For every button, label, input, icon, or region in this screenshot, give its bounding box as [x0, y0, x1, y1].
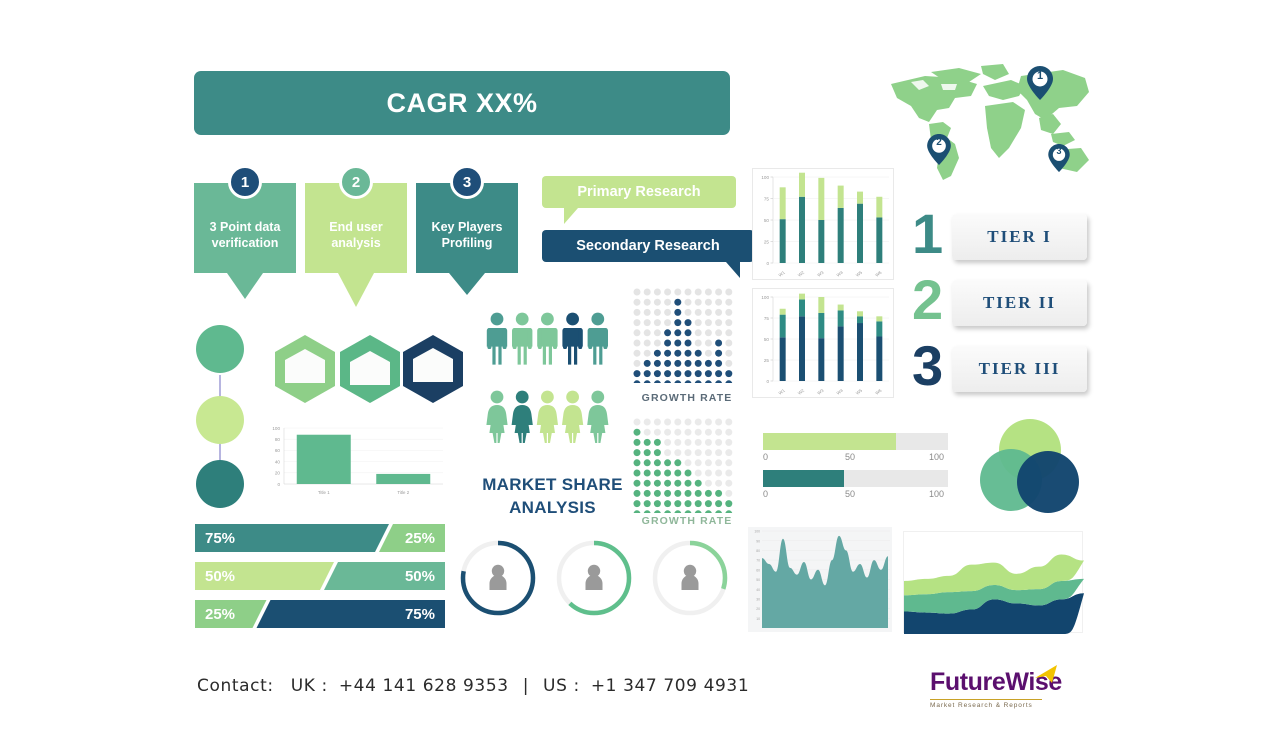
- svg-text:W2: W2: [797, 387, 806, 395]
- stacked-bar-chart-bottom-svg: 0255075100W1W2W3W4W5W6: [753, 289, 895, 399]
- svg-text:W5: W5: [855, 269, 864, 277]
- chain-circle-2[interactable]: [196, 396, 244, 444]
- svg-text:50%: 50%: [405, 568, 435, 585]
- scale-bar-fill-2: [763, 470, 844, 487]
- hexagon-1[interactable]: [272, 333, 338, 410]
- step-card-2[interactable]: 2 End user analysis: [305, 183, 407, 307]
- svg-text:100: 100: [761, 295, 769, 300]
- svg-text:25: 25: [764, 239, 770, 244]
- step-tail-1: [227, 273, 263, 299]
- contact-label: Contact:: [197, 676, 274, 696]
- svg-text:80: 80: [275, 437, 281, 442]
- area-chart-wave-svg: 102030405060708090100: [748, 527, 892, 632]
- scale-bar-2-tick-100: 100: [929, 489, 944, 499]
- svg-text:50: 50: [764, 218, 770, 223]
- donut-chart-1-svg: [456, 536, 540, 620]
- people-icons-group: [485, 310, 615, 465]
- svg-text:100: 100: [754, 530, 760, 534]
- venn-circle-navy: [1017, 451, 1079, 513]
- svg-text:10: 10: [756, 617, 760, 621]
- cagr-banner: CAGR XX%: [194, 71, 730, 135]
- svg-text:W2: W2: [797, 269, 806, 277]
- step-tail-3: [449, 273, 485, 295]
- tier-label-2: TIER II: [983, 293, 1056, 313]
- svg-text:0: 0: [766, 379, 769, 384]
- stacked-area-chart[interactable]: [903, 531, 1083, 633]
- svg-text:100: 100: [272, 426, 280, 431]
- svg-text:60: 60: [275, 448, 281, 453]
- scale-bar-1-tick-100: 100: [929, 452, 944, 462]
- svg-text:80: 80: [756, 549, 760, 553]
- tier-label-1: TIER I: [987, 227, 1051, 247]
- svg-text:W4: W4: [836, 387, 845, 395]
- scale-bar-fill-1: [763, 433, 896, 450]
- hexagon-3-icon: [400, 333, 466, 405]
- callout-secondary-research[interactable]: Secondary Research: [542, 230, 754, 262]
- contact-line: Contact: UK : +44 141 628 9353 | US : +1…: [197, 676, 749, 696]
- svg-text:50: 50: [756, 578, 760, 582]
- market-share-analysis-title: MARKET SHARE ANALYSIS: [470, 474, 635, 520]
- venn-diagram[interactable]: [978, 418, 1082, 518]
- stacked-bar-chart-top-svg: 0255075100W1W2W3W4W5W6: [753, 169, 895, 281]
- map-pin-3-number: 3: [1048, 146, 1070, 156]
- callout-primary-research-label: Primary Research: [577, 184, 700, 200]
- svg-text:60: 60: [756, 568, 760, 572]
- step-tail-2: [338, 273, 374, 307]
- tier-row-3[interactable]: 3 TIER III: [912, 346, 1087, 392]
- svg-text:W4: W4: [836, 269, 845, 277]
- step-badge-3: 3: [450, 165, 484, 199]
- svg-text:25%: 25%: [205, 606, 235, 623]
- tier-row-2[interactable]: 2 TIER II: [912, 280, 1087, 326]
- contact-us-phone: +1 347 709 4931: [591, 676, 749, 696]
- svg-text:0: 0: [766, 261, 769, 266]
- logo-tagline: Market Research & Reports: [930, 702, 1060, 709]
- svg-text:20: 20: [275, 471, 281, 476]
- map-pin-2[interactable]: 2: [927, 134, 951, 170]
- svg-text:W1: W1: [778, 387, 787, 395]
- dot-matrix-growth-1-svg: [632, 288, 742, 383]
- tier-number-3: 3: [912, 338, 943, 394]
- contact-separator: |: [523, 676, 529, 696]
- growth-rate-label-2: GROWTH RATE: [632, 515, 742, 527]
- svg-text:40: 40: [275, 459, 281, 464]
- donut-chart-1[interactable]: [456, 536, 540, 620]
- svg-text:100: 100: [761, 175, 769, 180]
- hexagon-2-icon: [337, 333, 403, 405]
- area-chart-wave[interactable]: 102030405060708090100: [748, 527, 892, 632]
- svg-text:Title 1: Title 1: [318, 490, 330, 495]
- tier-plate-2[interactable]: TIER II: [952, 280, 1087, 326]
- tier-plate-3[interactable]: TIER III: [952, 346, 1087, 392]
- hexagon-1-icon: [272, 333, 338, 405]
- stacked-bar-chart-bottom[interactable]: 0255075100W1W2W3W4W5W6: [752, 288, 894, 398]
- people-icons-svg: [485, 310, 615, 465]
- svg-text:30: 30: [756, 598, 760, 602]
- percent-bars-svg: 75%25%50%50%25%75%: [195, 524, 445, 634]
- svg-text:0: 0: [277, 482, 280, 487]
- chain-circle-1[interactable]: [196, 325, 244, 373]
- map-pin-2-number: 2: [927, 137, 951, 148]
- contact-uk-label: UK :: [291, 676, 328, 696]
- scale-bar-2-tick-0: 0: [763, 489, 768, 499]
- svg-text:90: 90: [756, 539, 760, 543]
- map-pin-1[interactable]: 1: [1027, 66, 1053, 105]
- svg-text:25: 25: [764, 358, 770, 363]
- step-card-3[interactable]: 3 Key Players Profiling: [416, 183, 518, 295]
- svg-text:50%: 50%: [205, 568, 235, 585]
- svg-text:75%: 75%: [405, 606, 435, 623]
- svg-text:W6: W6: [874, 387, 883, 395]
- svg-text:20: 20: [756, 607, 760, 611]
- donut-chart-2[interactable]: [552, 536, 636, 620]
- svg-text:W1: W1: [778, 269, 787, 277]
- svg-text:Title 2: Title 2: [397, 490, 409, 495]
- svg-text:W3: W3: [816, 387, 825, 395]
- svg-text:40: 40: [756, 588, 760, 592]
- mini-column-chart[interactable]: 020406080100Title 1Title 2: [258, 422, 453, 498]
- stacked-area-chart-svg: [904, 532, 1084, 634]
- mini-column-chart-svg: 020406080100Title 1Title 2: [258, 422, 453, 498]
- logo-arrow-icon: [1033, 664, 1059, 686]
- scale-bar-1-tick-50: 50: [845, 452, 855, 462]
- hexagon-2[interactable]: [337, 333, 403, 410]
- svg-text:75: 75: [764, 316, 770, 321]
- scale-bar-1-tick-0: 0: [763, 452, 768, 462]
- percent-bars-group[interactable]: 75%25%50%50%25%75%: [195, 524, 445, 634]
- map-pin-3[interactable]: 3: [1048, 144, 1070, 177]
- svg-text:W6: W6: [874, 269, 883, 277]
- tier-plate-1[interactable]: TIER I: [952, 214, 1087, 260]
- step-badge-1: 1: [228, 165, 262, 199]
- callout-secondary-research-label: Secondary Research: [576, 238, 719, 254]
- donut-chart-3-svg: [648, 536, 732, 620]
- callout-primary-research[interactable]: Primary Research: [542, 176, 736, 208]
- step-badge-2: 2: [339, 165, 373, 199]
- futurewise-logo[interactable]: FutureWise Market Research & Reports: [930, 668, 1060, 709]
- venn-diagram-svg: [978, 418, 1082, 518]
- dot-matrix-growth-2-svg: [632, 418, 742, 513]
- hexagon-3[interactable]: [400, 333, 466, 410]
- map-pin-1-number: 1: [1027, 70, 1053, 82]
- cagr-banner-title: CAGR XX%: [386, 88, 537, 119]
- callout-secondary-tail: [726, 262, 740, 278]
- svg-text:W5: W5: [855, 387, 864, 395]
- svg-text:70: 70: [756, 559, 760, 563]
- infographic-canvas: CAGR XX% 1 3 Point data verification 2 E…: [0, 0, 1280, 731]
- tier-row-1[interactable]: 1 TIER I: [912, 214, 1087, 260]
- scale-bar-track-2: [763, 470, 948, 487]
- tier-number-1: 1: [912, 206, 943, 262]
- logo-divider: [930, 699, 1042, 700]
- scale-bar-2-tick-50: 50: [845, 489, 855, 499]
- growth-rate-label-1: GROWTH RATE: [632, 392, 742, 404]
- donut-chart-3[interactable]: [648, 536, 732, 620]
- scale-bar-track-1: [763, 433, 948, 450]
- step-card-1[interactable]: 1 3 Point data verification: [194, 183, 296, 299]
- dot-matrix-growth-1[interactable]: [632, 288, 742, 383]
- svg-text:75%: 75%: [205, 530, 235, 547]
- contact-us-label: US :: [543, 676, 580, 696]
- svg-text:75: 75: [764, 196, 770, 201]
- tier-number-2: 2: [912, 272, 943, 328]
- dot-matrix-growth-2[interactable]: [632, 418, 742, 513]
- tier-label-3: TIER III: [979, 359, 1061, 379]
- svg-text:25%: 25%: [405, 530, 435, 547]
- contact-uk-phone: +44 141 628 9353: [339, 676, 509, 696]
- svg-text:50: 50: [764, 337, 770, 342]
- callout-primary-tail: [564, 208, 578, 224]
- world-map[interactable]: 1 2 3: [885, 62, 1095, 187]
- chain-circle-3[interactable]: [196, 460, 244, 508]
- svg-text:W3: W3: [816, 269, 825, 277]
- stacked-bar-chart-top[interactable]: 0255075100W1W2W3W4W5W6: [752, 168, 894, 280]
- donut-chart-2-svg: [552, 536, 636, 620]
